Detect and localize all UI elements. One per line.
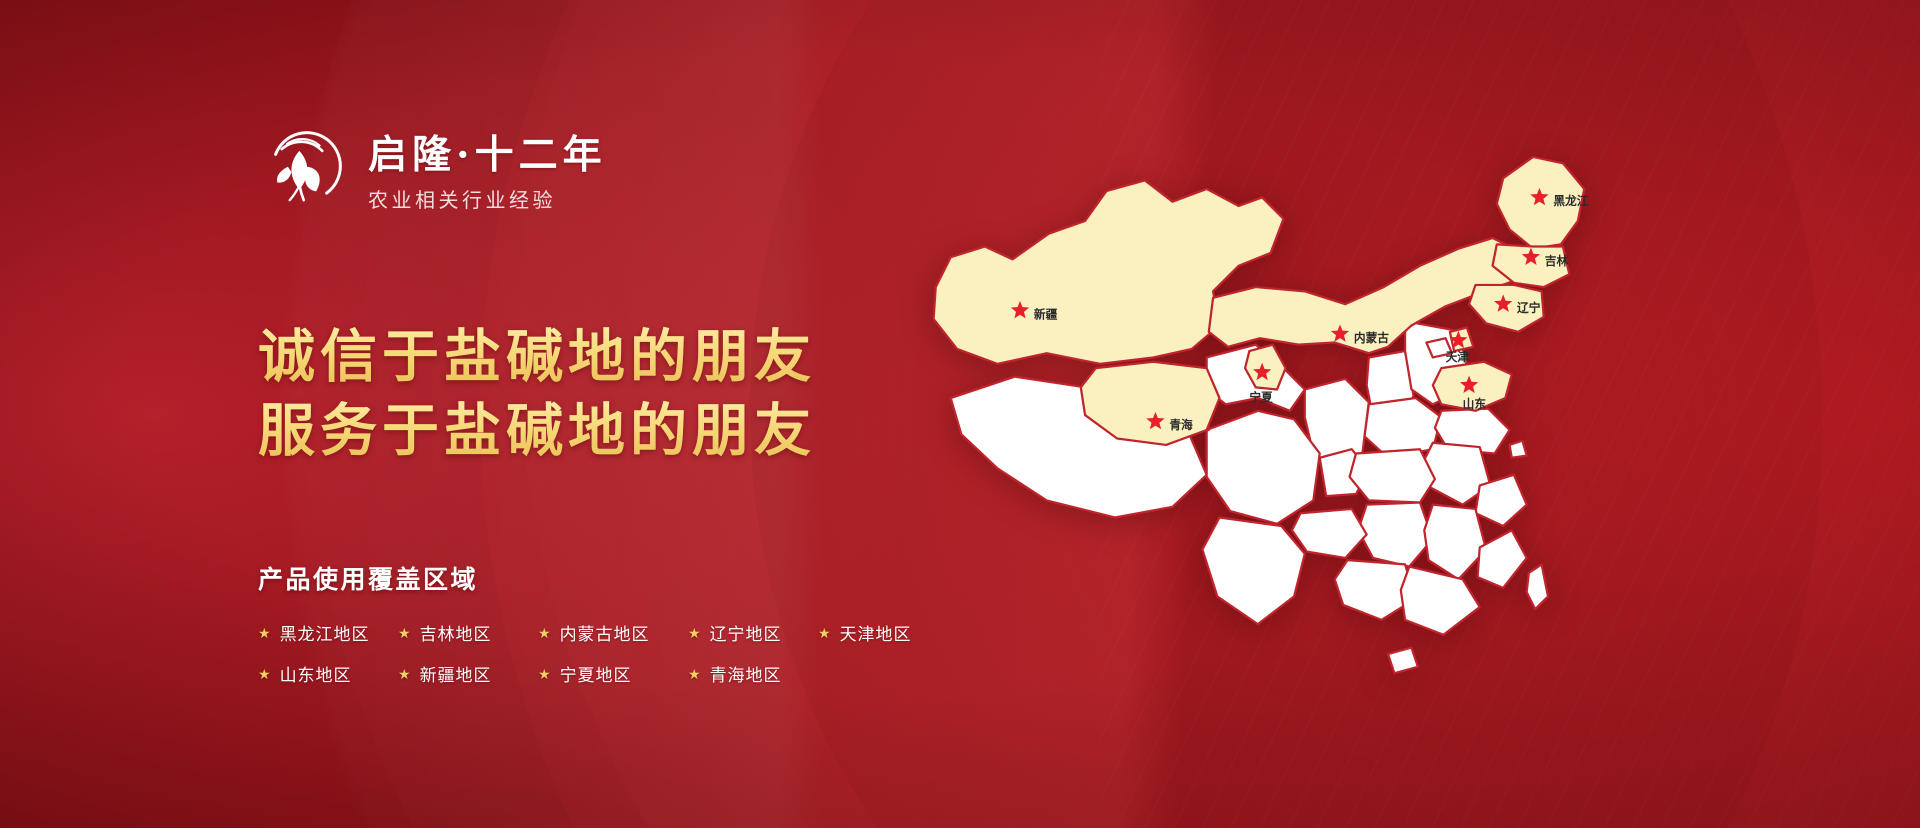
map-marker-label: 山东	[1463, 397, 1487, 411]
coverage-title: 产品使用覆盖区域	[258, 560, 478, 596]
star-icon: ★	[538, 667, 551, 681]
coverage-region-item: ★内蒙古地区	[538, 620, 688, 645]
coverage-region-label: 黑龙江地区	[280, 620, 370, 645]
coverage-region-item: ★新疆地区	[398, 661, 538, 686]
brand-lockup: 启隆·十二年 农业相关行业经验	[258, 128, 607, 216]
headline: 诚信于盐碱地的朋友 服务于盐碱地的朋友	[258, 320, 816, 468]
coverage-region-label: 山东地区	[280, 661, 352, 686]
map-marker-label: 吉林	[1545, 254, 1569, 268]
coverage-region-item: ★青海地区	[688, 661, 818, 686]
coverage-region-item: ★宁夏地区	[538, 661, 688, 686]
map-marker-label: 黑龙江	[1553, 194, 1588, 208]
star-icon: ★	[818, 626, 831, 640]
headline-line-2: 服务于盐碱地的朋友	[258, 394, 816, 468]
map-marker-label: 辽宁	[1517, 301, 1541, 315]
star-icon: ★	[538, 626, 551, 640]
coverage-region-label: 青海地区	[710, 661, 782, 686]
map-marker-label: 新疆	[1034, 307, 1058, 321]
coverage-region-list: ★黑龙江地区★吉林地区★内蒙古地区★辽宁地区★天津地区★山东地区★新疆地区★宁夏…	[258, 620, 948, 686]
map-marker-label: 青海	[1169, 418, 1193, 432]
star-icon: ★	[258, 626, 271, 640]
star-icon: ★	[258, 667, 271, 681]
star-icon: ★	[398, 667, 411, 681]
map-marker-label: 宁夏	[1249, 391, 1273, 405]
coverage-region-item: ★吉林地区	[398, 620, 538, 645]
coverage-region-item: ★黑龙江地区	[258, 620, 398, 645]
brand-text: 启隆·十二年 农业相关行业经验	[368, 131, 607, 214]
brand-title: 启隆·十二年	[368, 135, 607, 176]
star-icon: ★	[398, 626, 411, 640]
brand-subtitle: 农业相关行业经验	[368, 184, 607, 213]
coverage-region-label: 内蒙古地区	[560, 620, 650, 645]
star-icon: ★	[688, 667, 701, 681]
coverage-region-label: 宁夏地区	[560, 661, 632, 686]
coverage-region-label: 新疆地区	[420, 661, 492, 686]
coverage-region-label: 辽宁地区	[710, 620, 782, 645]
coverage-region-item: ★山东地区	[258, 661, 398, 686]
headline-line-1: 诚信于盐碱地的朋友	[258, 320, 816, 394]
coverage-region-label: 吉林地区	[420, 620, 492, 645]
map-marker-label: 天津	[1446, 350, 1470, 364]
star-icon: ★	[688, 626, 701, 640]
lotus-leaf-icon	[258, 128, 346, 216]
china-map: 黑龙江吉林辽宁内蒙古天津山东宁夏新疆青海	[880, 78, 1640, 718]
map-marker-label: 内蒙古	[1354, 331, 1389, 345]
coverage-region-item: ★辽宁地区	[688, 620, 818, 645]
